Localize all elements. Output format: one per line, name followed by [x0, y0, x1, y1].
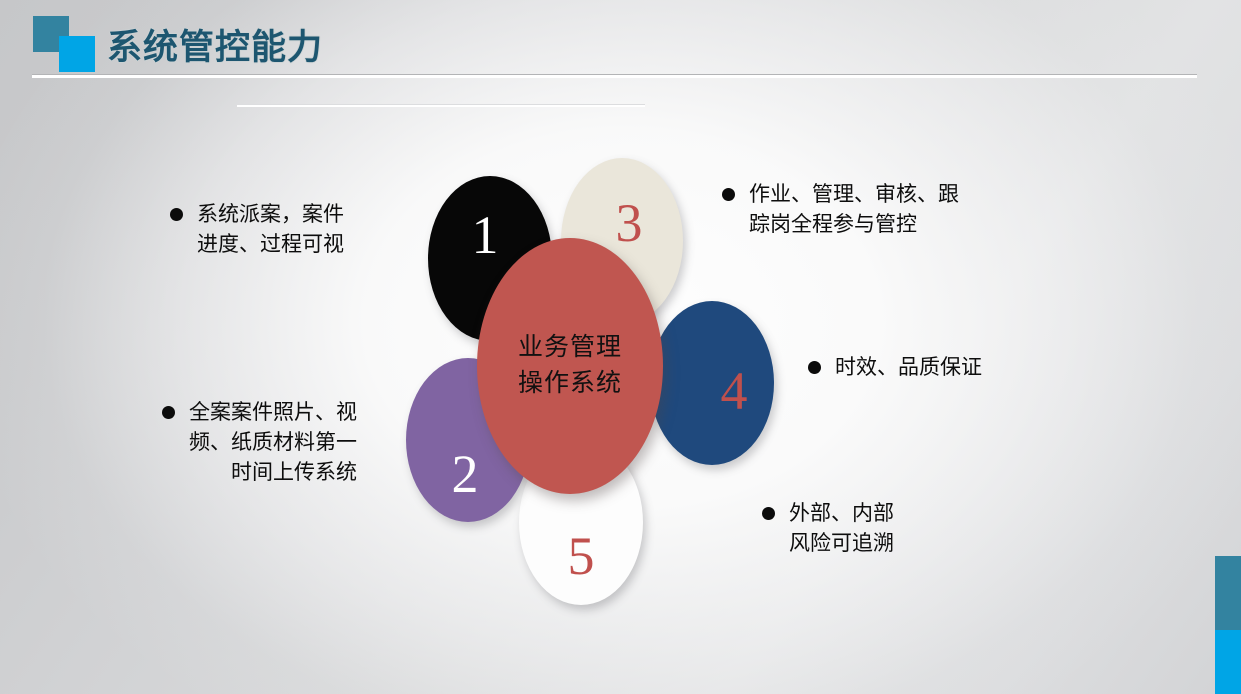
petal-5-number: 5	[568, 529, 595, 583]
diagram-center-hub[interactable]: 业务管理 操作系统	[477, 238, 663, 494]
bullet-dot-icon	[808, 361, 821, 374]
callout-4-text: 时效、品质保证	[835, 353, 982, 383]
callout-2: 全案案件照片、视 频、纸质材料第一 时间上传系统	[162, 398, 424, 487]
callout-1-text: 系统派案，案件 进度、过程可视	[197, 200, 344, 260]
hub-line-2: 操作系统	[518, 366, 622, 402]
corner-accent-top	[1215, 556, 1241, 630]
corner-accent-bottom	[1215, 630, 1241, 694]
callout-3: 作业、管理、审核、跟 踪岗全程参与管控	[722, 180, 1052, 240]
petal-4-number: 4	[721, 364, 748, 418]
hub-line-1: 业务管理	[518, 330, 622, 366]
bullet-dot-icon	[762, 507, 775, 520]
callout-3-text: 作业、管理、审核、跟 踪岗全程参与管控	[749, 180, 959, 240]
petal-3-number: 3	[616, 196, 643, 250]
callout-1: 系统派案，案件 进度、过程可视	[170, 200, 420, 260]
bullet-dot-icon	[162, 406, 175, 419]
slide-canvas: 系统管控能力 1 3 2 4 5 业务管理 操作系统 系统派案，案件 进度、过程…	[0, 0, 1241, 694]
bullet-dot-icon	[722, 188, 735, 201]
petal-2-number: 2	[452, 447, 479, 501]
petal-1-number: 1	[472, 208, 499, 262]
callout-5: 外部、内部 风险可追溯	[762, 499, 1022, 559]
bullet-dot-icon	[170, 208, 183, 221]
callout-4: 时效、品质保证	[808, 353, 1068, 383]
petal-diagram: 1 3 2 4 5 业务管理 操作系统	[0, 0, 1241, 694]
callout-2-text: 全案案件照片、视 频、纸质材料第一 时间上传系统	[189, 398, 357, 487]
callout-5-text: 外部、内部 风险可追溯	[789, 499, 894, 559]
petal-4[interactable]: 4	[650, 301, 774, 465]
